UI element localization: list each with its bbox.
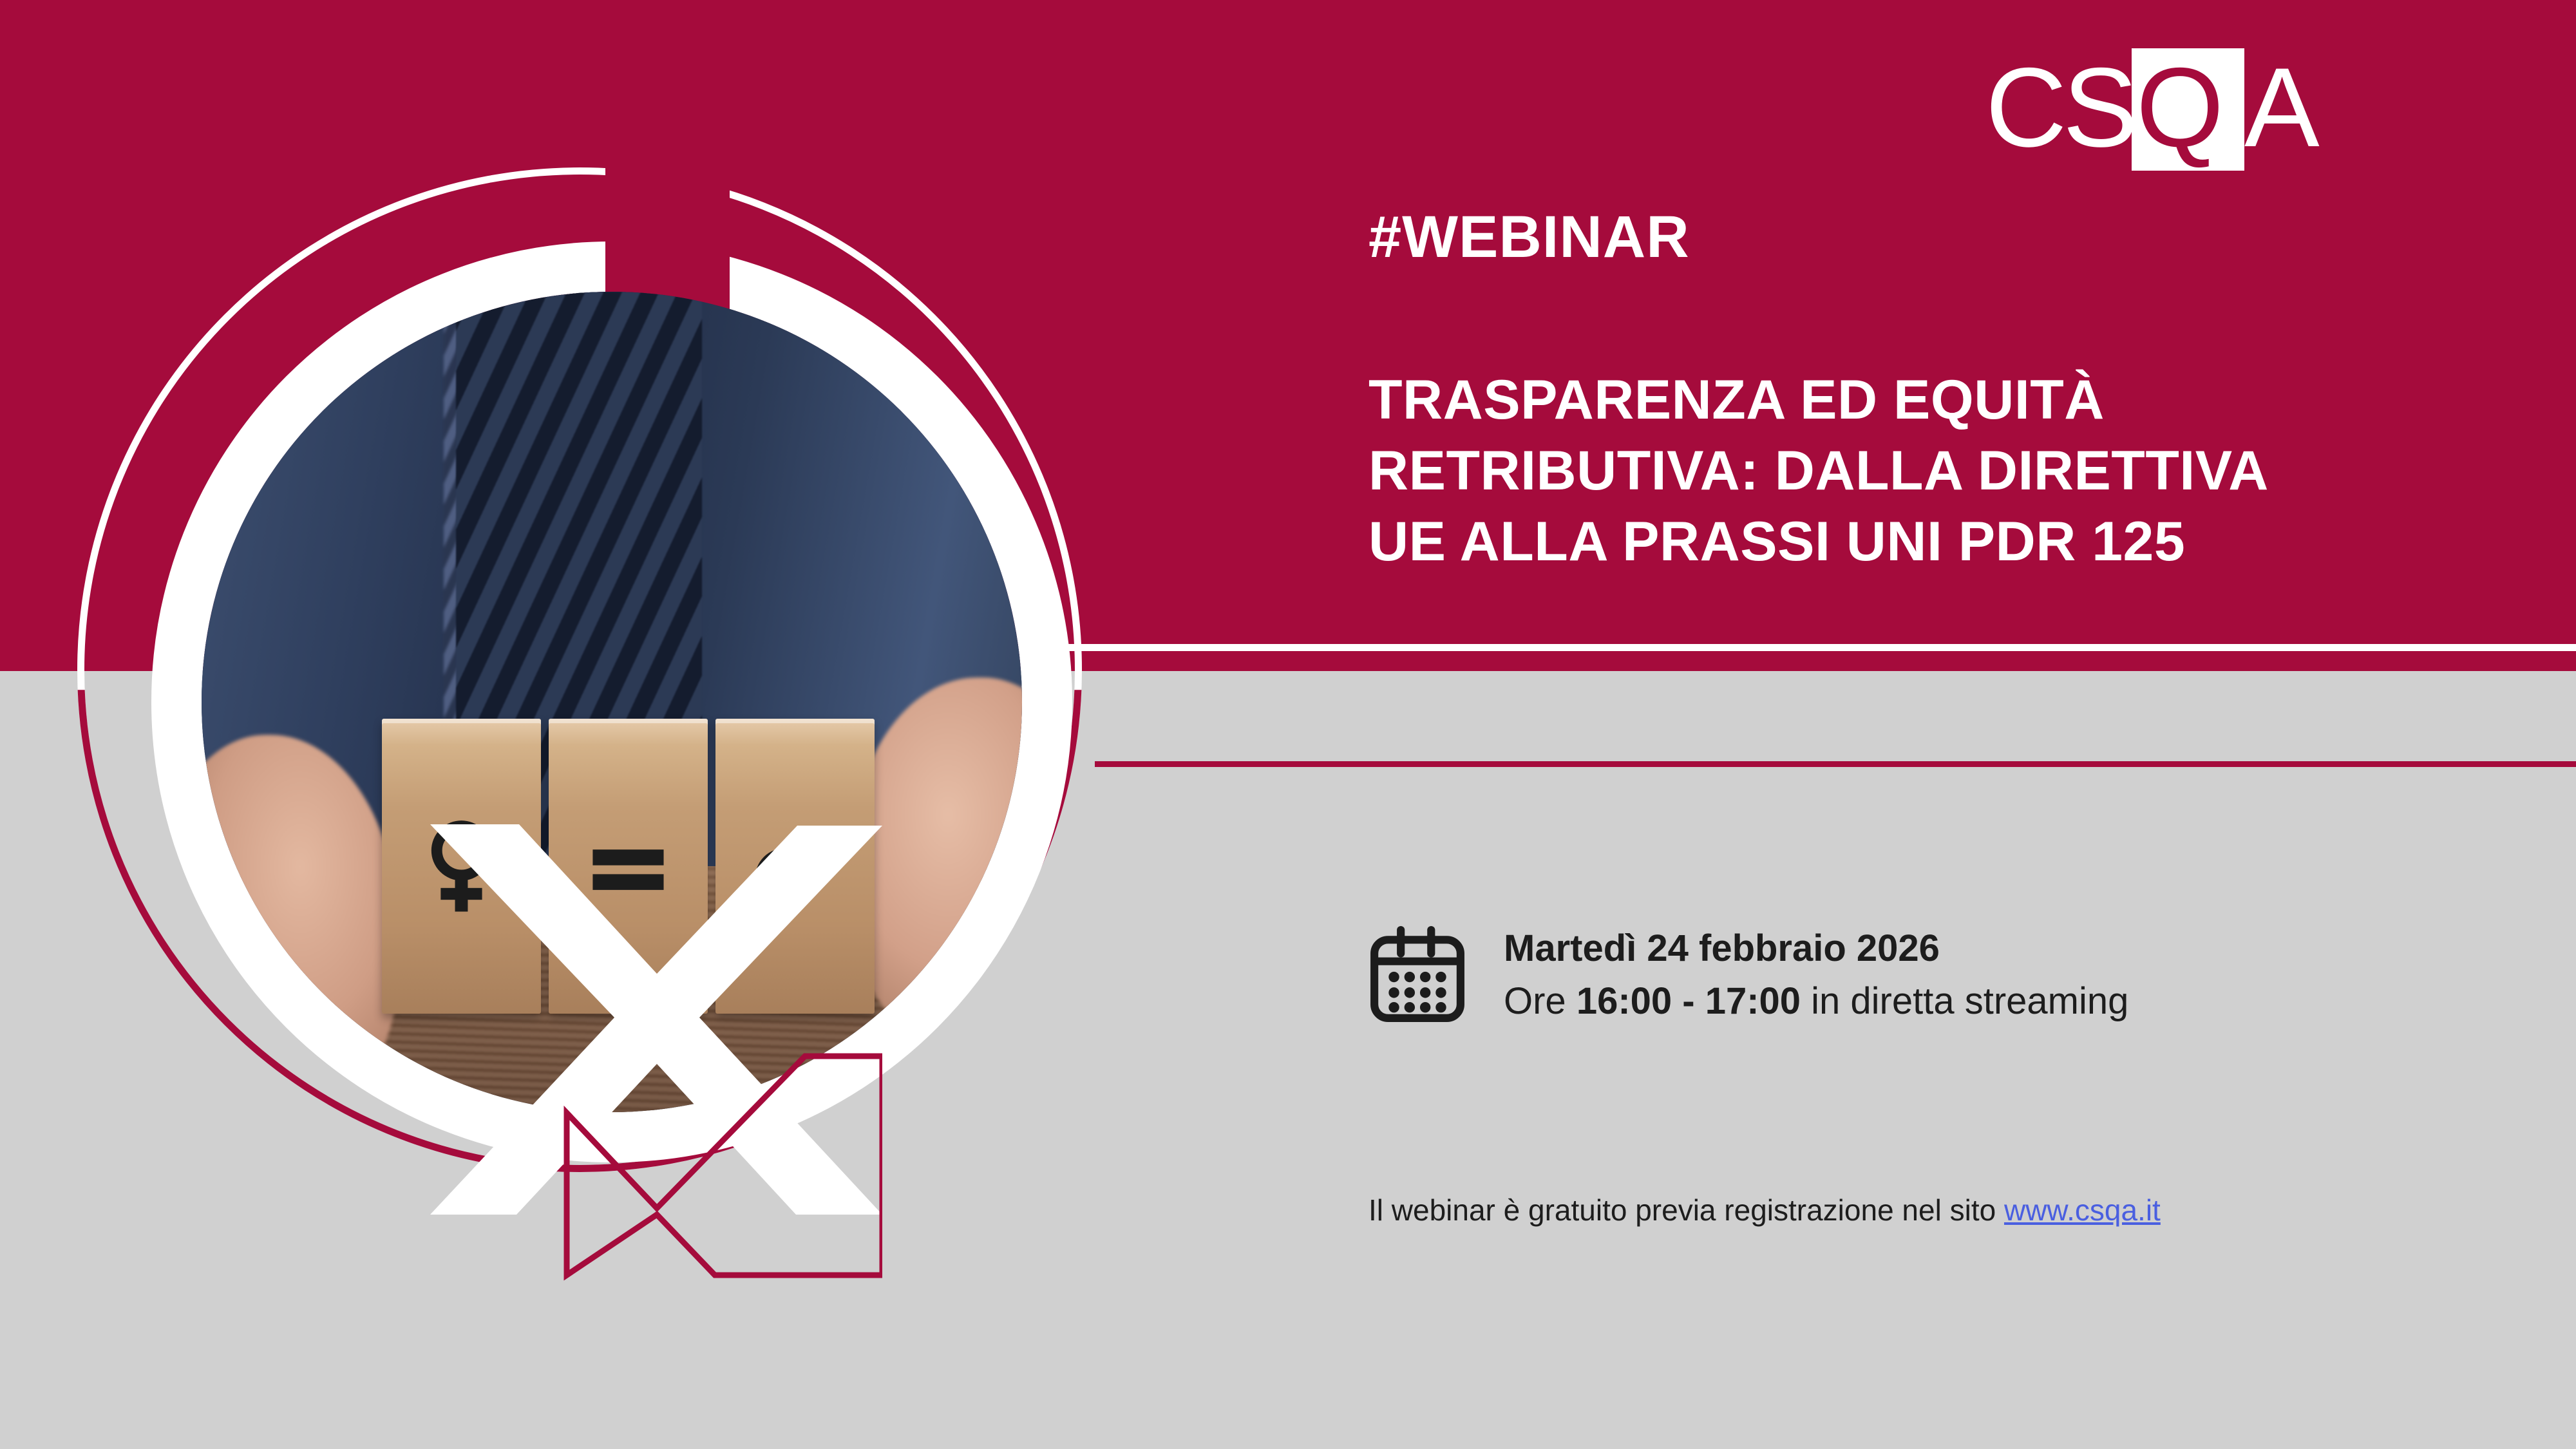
q-monogram xyxy=(77,97,1301,1320)
event-time-suffix: in diretta streaming xyxy=(1801,980,2128,1022)
logo-letter-q: Q xyxy=(2136,48,2225,171)
q-ring-notch xyxy=(605,97,730,309)
content-column: #WEBINAR TRASPARENZA ED EQUITÀ RETRIBUTI… xyxy=(1368,0,2463,1449)
title-line-2: RETRIBUTIVA: DALLA DIRETTIVA xyxy=(1368,435,2269,506)
page-title: TRASPARENZA ED EQUITÀ RETRIBUTIVA: DALLA… xyxy=(1368,365,2269,577)
calendar-icon xyxy=(1368,926,1466,1024)
event-text: Martedì 24 febbraio 2026 Ore 16:00 - 17:… xyxy=(1504,922,2128,1028)
logo-letter-c: C xyxy=(1985,48,2068,171)
registration-text: Il webinar è gratuito previa registrazio… xyxy=(1368,1193,2004,1227)
csqa-logo: C S Q A xyxy=(1974,48,2334,171)
event-date: Martedì 24 febbraio 2026 xyxy=(1504,922,2128,975)
event-time-prefix: Ore xyxy=(1504,980,1577,1022)
q-tail xyxy=(354,824,882,1327)
event-datetime: Martedì 24 febbraio 2026 Ore 16:00 - 17:… xyxy=(1368,922,2128,1028)
event-time-range: 16:00 - 17:00 xyxy=(1577,980,1801,1022)
q-tail-cross xyxy=(430,824,882,1215)
registration-note: Il webinar è gratuito previa registrazio… xyxy=(1368,1193,2161,1227)
title-line-3: UE ALLA PRASSI UNI PDR 125 xyxy=(1368,506,2269,577)
logo-letter-s: S xyxy=(2063,48,2139,171)
logo-letter-a: A xyxy=(2244,48,2321,171)
event-time: Ore 16:00 - 17:00 in diretta streaming xyxy=(1504,975,2128,1028)
website-link[interactable]: www.csqa.it xyxy=(2004,1193,2161,1227)
webinar-poster: #WEBINAR TRASPARENZA ED EQUITÀ RETRIBUTI… xyxy=(0,0,2576,1449)
hashtag-webinar: #WEBINAR xyxy=(1368,207,1690,267)
title-line-1: TRASPARENZA ED EQUITÀ xyxy=(1368,365,2269,435)
